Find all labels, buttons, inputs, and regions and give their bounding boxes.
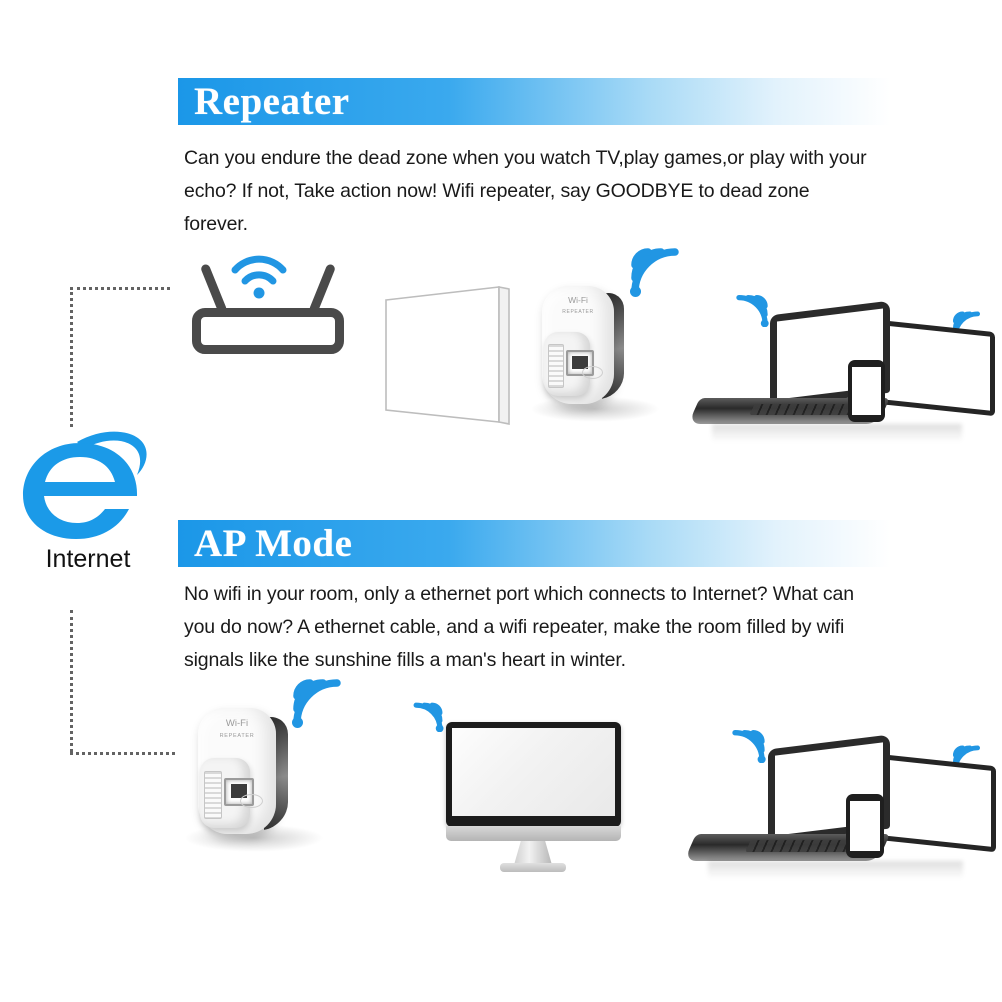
section-title-repeater: Repeater [178,82,350,121]
section-title-ap-mode: AP Mode [178,524,352,563]
wifi-signal-icon [626,245,684,297]
laptop-phone-tablet-group [682,288,994,438]
wifi-repeater: Wi-Fi REPEATER [178,672,368,857]
repeater-model-label: REPEATER [220,733,255,739]
repeater-vents [548,344,564,388]
section-body-ap-mode: No wifi in your room, only a ethernet po… [184,578,876,677]
monitor-screen [452,728,615,816]
device-reflection [708,861,963,879]
section-header-ap-mode: AP Mode [178,520,890,567]
repeater-wifi-label: Wi-Fi [568,295,588,305]
internet-node: Internet [18,425,158,574]
internet-label: Internet [18,545,158,574]
device-reflection [712,424,962,442]
repeater-brand-text: Wi-Fi REPEATER [202,719,272,741]
repeater-brand-text: Wi-Fi REPEATER [546,296,610,316]
repeater-indicator-ring [582,366,603,379]
connector-line-bottom-horizontal [70,752,175,755]
repeater-model-label: REPEATER [562,309,593,315]
infographic-page: Internet Repeater Can you endure the dea… [0,0,1002,1002]
section-body-repeater: Can you endure the dead zone when you wa… [184,142,874,241]
wifi-signal-icon [288,676,346,728]
laptop-phone-tablet-group [678,726,996,876]
connector-line-top-horizontal [70,287,170,290]
internet-explorer-e-icon [18,425,158,543]
connector-line-bottom-vertical [70,610,73,752]
router-antenna-left [200,263,228,315]
wall-panel [378,282,528,434]
monitor-chin [446,826,621,841]
repeater-wifi-label: Wi-Fi [226,718,248,729]
monitor-foot [500,863,566,872]
wifi-signal-icon [732,293,772,327]
connector-line-top-vertical [70,287,73,427]
wifi-router [192,253,352,368]
wifi-signal-icon [228,248,290,300]
router-body [192,308,344,354]
desktop-monitor [404,695,624,880]
wifi-signal-icon [728,728,769,763]
router-antenna-right [308,263,336,315]
monitor-neck [514,841,552,865]
repeater-indicator-ring [240,794,263,808]
wifi-repeater: Wi-Fi REPEATER [524,248,704,433]
wifi-signal-icon [410,701,446,732]
section-header-repeater: Repeater [178,78,890,125]
repeater-vents [204,771,222,819]
